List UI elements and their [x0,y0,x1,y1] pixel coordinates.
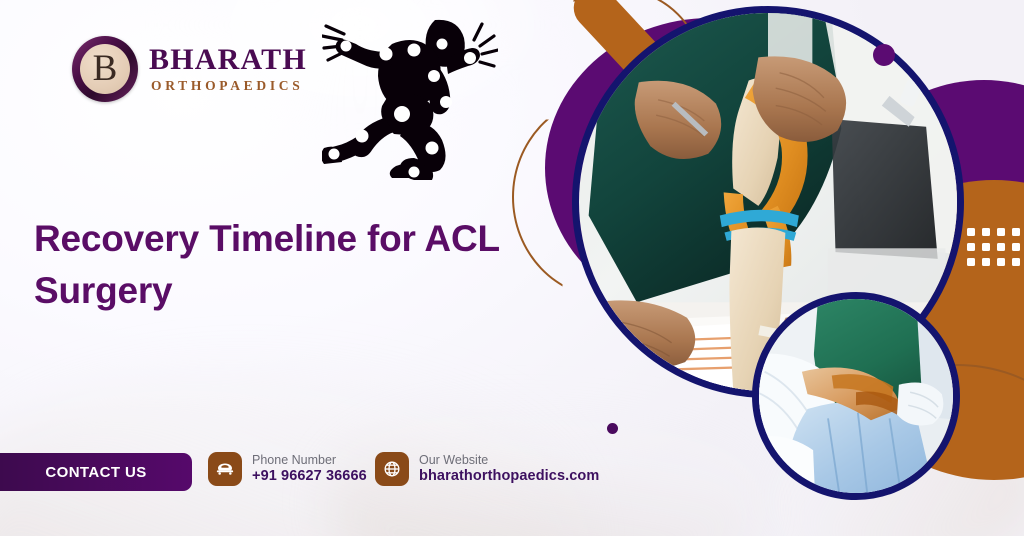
logo-text-block: BHARATH ORTHOPAEDICS [149,45,307,93]
page-title: Recovery Timeline for ACL Surgery [34,213,504,318]
acl-surgery-banner: B BHARATH ORTHOPAEDICS [0,0,1024,536]
secondary-photo-circle [752,292,960,500]
logo-monogram-circle-icon: B [72,36,138,102]
brand-name: BHARATH [149,45,307,75]
phone-text-block: Phone Number +91 96627 36666 [252,453,367,486]
phone-value[interactable]: +91 96627 36666 [252,468,367,486]
telephone-icon [208,452,242,486]
website-info[interactable]: Our Website bharathorthopaedics.com [375,452,599,486]
phone-info[interactable]: Phone Number +91 96627 36666 [208,452,367,486]
running-figure-silhouette-icon [322,14,498,189]
logo-letter: B [93,50,118,87]
surgery-photo [759,299,953,493]
contact-us-button[interactable]: CONTACT US [0,453,192,491]
website-value[interactable]: bharathorthopaedics.com [419,468,599,486]
purple-dot-on-ring-decoration [873,44,895,66]
small-purple-dot-decoration [607,423,618,434]
website-text-block: Our Website bharathorthopaedics.com [419,453,599,486]
logo-inner-disc: B [80,44,130,94]
dot-grid-decoration [967,228,1020,266]
phone-label: Phone Number [252,453,367,468]
website-label: Our Website [419,453,599,468]
globe-icon [375,452,409,486]
brand-logo[interactable]: B BHARATH ORTHOPAEDICS [72,36,307,102]
brand-tagline: ORTHOPAEDICS [149,79,307,93]
contact-us-label: CONTACT US [45,464,146,481]
